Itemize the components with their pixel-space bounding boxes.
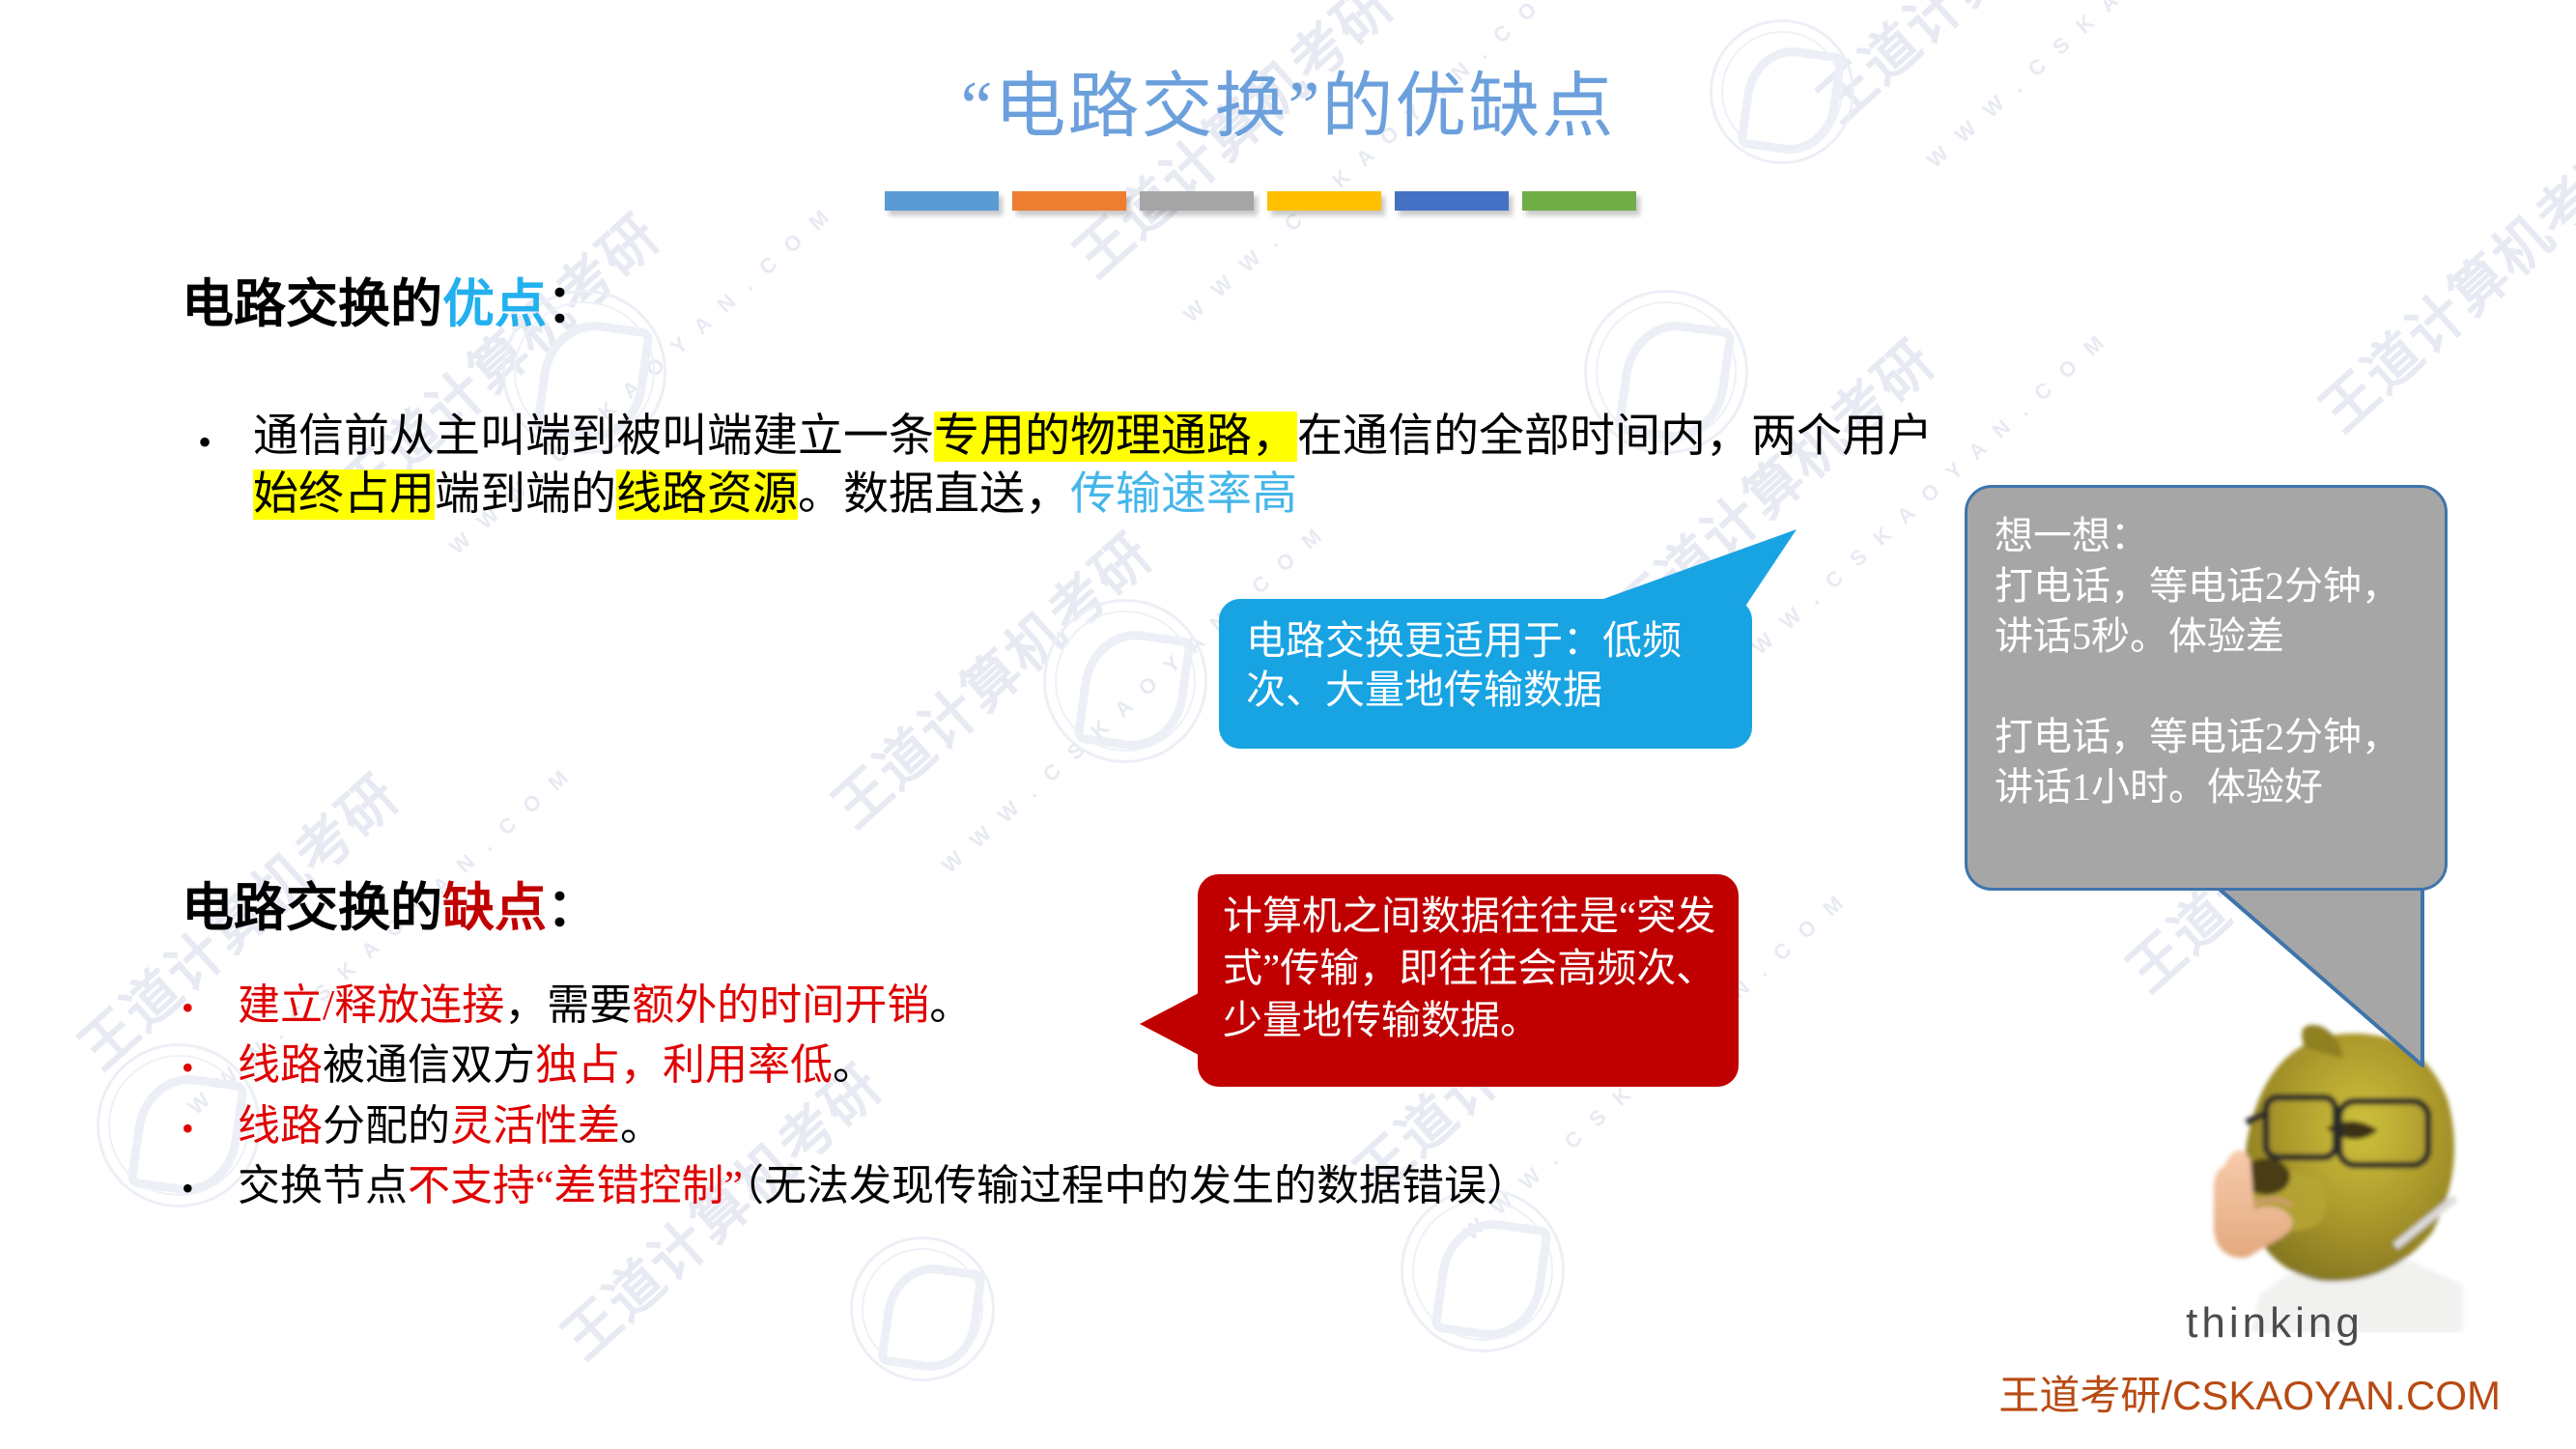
- cons-heading-accent: 缺点: [442, 879, 547, 937]
- watermark-logo: [1043, 599, 1207, 763]
- gray-line-6: 讲话1小时。体验好: [1995, 762, 2431, 812]
- cyan-callout[interactable]: 电路交换更适用于：低频次、大量地传输数据: [1219, 599, 1752, 749]
- pros-heading-colon: ：: [547, 275, 599, 333]
- cons-heading-colon: ：: [547, 879, 599, 937]
- pros-seg-2: 在通信的全部时间内，两个用户: [1297, 412, 1933, 462]
- pros-seg-7: 传输速率高: [1070, 469, 1297, 520]
- cons-3-seg-1: 分配的: [323, 1102, 450, 1150]
- doge-caption: thinking: [2077, 1299, 2473, 1348]
- cons-item-2-text: 线路被通信双方独占，利用率低。: [238, 1036, 875, 1095]
- cons-item-4-text: 交换节点不支持“差错控制”（无法发现传输过程中的发生的数据错误）: [238, 1156, 1529, 1216]
- gray-line-1: 想一想：: [1995, 511, 2431, 561]
- cons-1-seg-0: 建立/释放连接: [238, 981, 504, 1029]
- pros-bullet-glyph: •: [198, 423, 212, 462]
- gray-callout-tail: [2202, 874, 2424, 1067]
- pros-seg-1: 专用的物理通路，: [934, 412, 1297, 462]
- gray-callout-text: 想一想： 打电话，等电话2分钟， 讲话5秒。体验差 打电话，等电话2分钟， 讲话…: [1995, 511, 2431, 812]
- cons-2-seg-0: 线路: [238, 1041, 323, 1089]
- cons-item-1: • 建立/释放连接，需要额外的时间开销。: [182, 976, 2017, 1036]
- pros-heading-prefix: 电路交换的: [182, 275, 442, 333]
- cons-bullet-glyph: •: [182, 1171, 238, 1206]
- watermark-brand-text: 王道计算机考研: [811, 511, 1167, 842]
- cons-3-seg-2: 灵活性差: [450, 1102, 620, 1150]
- cons-item-4: • 交换节点不支持“差错控制”（无法发现传输过程中的发生的数据错误）: [182, 1156, 2017, 1216]
- pros-seg-6: 。数据直送，: [798, 469, 1070, 520]
- pros-seg-0: 通信前从主叫端到被叫端建立一条: [253, 412, 934, 462]
- gray-line-3: 讲话5秒。体验差: [1995, 611, 2431, 662]
- title-bar-1: [885, 191, 999, 211]
- watermark-brand-text: 王道计算机考研: [2299, 115, 2576, 446]
- title-bar-3: [1140, 191, 1254, 211]
- gray-line-5: 打电话，等电话2分钟，: [1995, 712, 2431, 762]
- page-title: “电路交换”的优缺点: [0, 48, 2576, 152]
- cons-bullet-glyph: •: [182, 1050, 238, 1085]
- cyan-callout-text: 电路交换更适用于：低频次、大量地传输数据: [1246, 616, 1729, 716]
- cons-3-seg-0: 线路: [238, 1102, 323, 1150]
- red-callout-text: 计算机之间数据往往是“突发式”传输，即往往会高频次、少量地传输数据。: [1223, 890, 1717, 1046]
- cons-1-seg-1: ，需要: [504, 981, 632, 1029]
- pros-heading-accent: 优点: [442, 275, 547, 333]
- cons-bullet-list: • 建立/释放连接，需要额外的时间开销。 • 线路被通信双方独占，利用率低。 •…: [182, 976, 2017, 1217]
- pros-seg-4: 端到端的: [435, 469, 616, 520]
- cons-heading: 电路交换的缺点：: [182, 865, 599, 941]
- title-bar-2: [1012, 191, 1126, 211]
- cons-1-seg-2: 额外的时间开销: [632, 981, 929, 1029]
- title-bar-6: [1522, 191, 1636, 211]
- cons-item-3: • 线路分配的灵活性差。: [182, 1096, 2017, 1156]
- watermark-logo: [850, 1236, 995, 1381]
- cons-heading-prefix: 电路交换的: [182, 879, 442, 937]
- cons-1-seg-3: 。: [929, 981, 972, 1029]
- pros-body-text: 通信前从主叫端到被叫端建立一条专用的物理通路，在通信的全部时间内，两个用户始终占…: [253, 408, 1953, 524]
- gray-line-2: 打电话，等电话2分钟，: [1995, 561, 2431, 611]
- footer-brand: 王道考研/CSKAOYAN.COM: [1998, 1363, 2501, 1422]
- cons-item-2: • 线路被通信双方独占，利用率低。: [182, 1036, 2017, 1095]
- cons-item-3-text: 线路分配的灵活性差。: [238, 1096, 663, 1156]
- cons-item-1-text: 建立/释放连接，需要额外的时间开销。: [238, 976, 972, 1036]
- title-bar-5: [1395, 191, 1509, 211]
- red-callout[interactable]: 计算机之间数据往往是“突发式”传输，即往往会高频次、少量地传输数据。: [1198, 874, 1739, 1087]
- cons-bullet-glyph: •: [182, 990, 238, 1025]
- cons-2-seg-1: 被通信双方: [323, 1041, 535, 1089]
- cons-2-seg-3: 。: [833, 1041, 875, 1089]
- cons-4-seg-2: （无法发现传输过程中的发生的数据错误）: [743, 1162, 1529, 1209]
- cons-3-seg-3: 。: [620, 1102, 663, 1150]
- slide-canvas: 王道计算机考研 W W W . C S K A O Y A N . C O M …: [0, 0, 2576, 1449]
- cons-4-seg-1: 不支持“差错控制”: [408, 1162, 743, 1209]
- cons-2-seg-2: 独占，利用率低: [535, 1041, 833, 1089]
- pros-seg-3: 始终占用: [253, 469, 435, 520]
- pros-seg-5: 线路资源: [616, 469, 798, 520]
- cons-bullet-glyph: •: [182, 1111, 238, 1146]
- gray-callout[interactable]: 想一想： 打电话，等电话2分钟， 讲话5秒。体验差 打电话，等电话2分钟， 讲话…: [1965, 485, 2448, 891]
- title-decor-bars: [885, 191, 1636, 211]
- cons-4-seg-0: 交换节点: [238, 1162, 408, 1209]
- pros-heading: 电路交换的优点：: [182, 261, 599, 337]
- title-bar-4: [1267, 191, 1381, 211]
- gray-line-blank: [1995, 662, 2431, 712]
